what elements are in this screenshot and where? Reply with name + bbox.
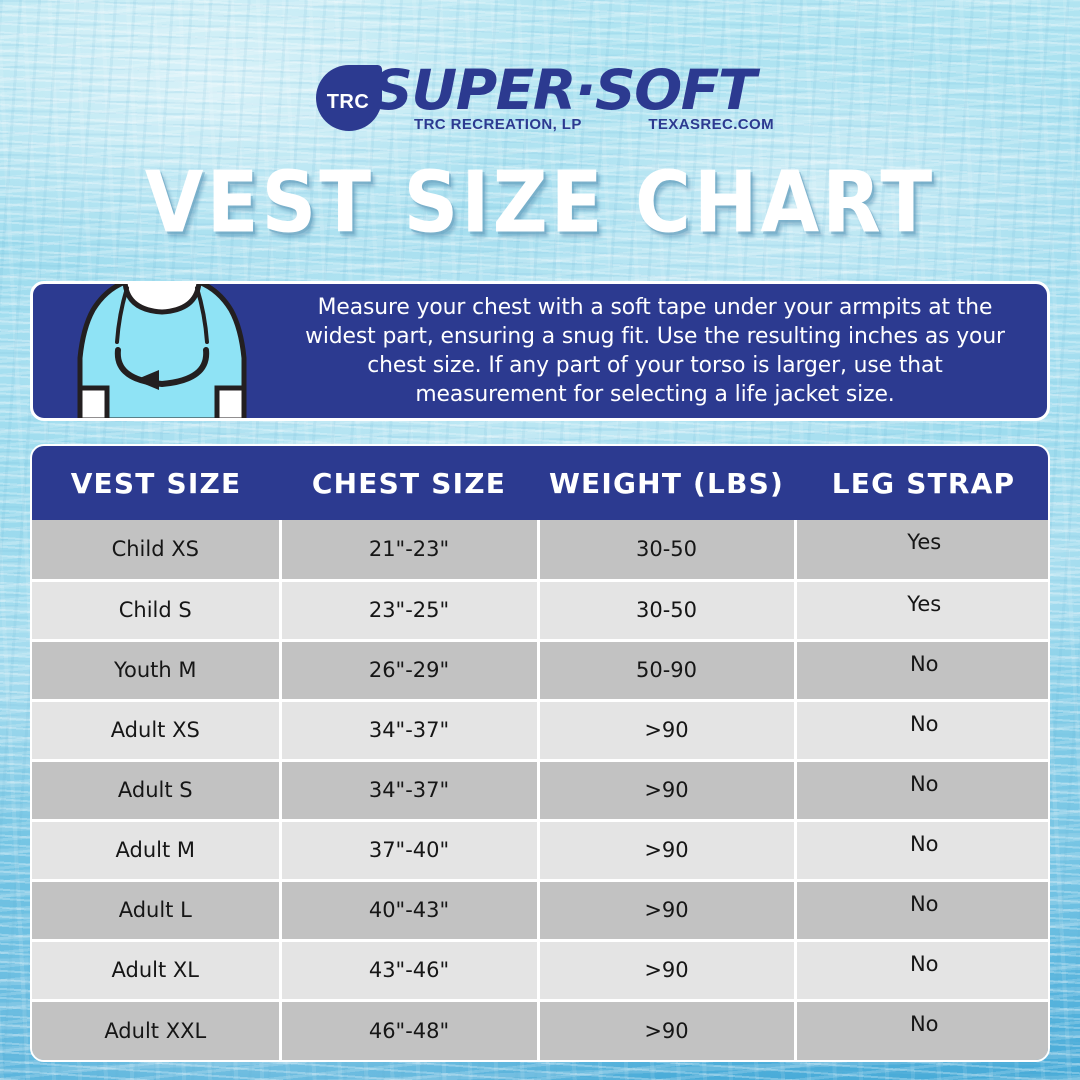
cell-chest-size: 23"-25": [280, 580, 538, 640]
table-row: Youth M26"-29"50-90No: [32, 640, 1050, 700]
cell-weight: >90: [538, 1000, 795, 1060]
cell-chest-size: 34"-37": [280, 760, 538, 820]
table-row: Adult S34"-37">90No: [32, 760, 1050, 820]
table-row: Child XS21"-23"30-50Yes: [32, 520, 1050, 580]
cell-vest-size: Child S: [32, 580, 280, 640]
column-header-leg-strap: LEG STRAP: [795, 446, 1050, 520]
cell-weight: >90: [538, 760, 795, 820]
cell-leg-strap: No: [795, 760, 1050, 820]
cell-chest-size: 37"-40": [280, 820, 538, 880]
cell-vest-size: Child XS: [32, 520, 280, 580]
brand-wordmark: SUPER·SOFT: [372, 58, 755, 122]
logo-mark-text: TRC: [327, 91, 370, 114]
cell-leg-strap: No: [795, 700, 1050, 760]
instruction-text: Measure your chest with a soft tape unde…: [298, 293, 1012, 410]
table-row: Adult XS34"-37">90No: [32, 700, 1050, 760]
cell-chest-size: 40"-43": [280, 880, 538, 940]
cell-weight: 50-90: [538, 640, 795, 700]
cell-vest-size: Youth M: [32, 640, 280, 700]
cell-chest-size: 43"-46": [280, 940, 538, 1000]
cell-weight: >90: [538, 940, 795, 1000]
cell-weight: 30-50: [538, 520, 795, 580]
cell-vest-size: Adult XXL: [32, 1000, 280, 1060]
cell-weight: 30-50: [538, 580, 795, 640]
vest-size-table: VEST SIZE CHEST SIZE WEIGHT (LBS) LEG ST…: [30, 444, 1050, 1062]
cell-vest-size: Adult XL: [32, 940, 280, 1000]
table-row: Adult XXL46"-48">90No: [32, 1000, 1050, 1060]
cell-weight: >90: [538, 700, 795, 760]
page-title: VEST SIZE CHART: [0, 152, 1080, 252]
torso-chest-measure-icon: [33, 284, 283, 418]
cell-vest-size: Adult XS: [32, 700, 280, 760]
cell-leg-strap: No: [795, 820, 1050, 880]
cell-vest-size: Adult L: [32, 880, 280, 940]
cell-chest-size: 46"-48": [280, 1000, 538, 1060]
cell-chest-size: 26"-29": [280, 640, 538, 700]
table-row: Adult XL43"-46">90No: [32, 940, 1050, 1000]
table-row: Child S23"-25"30-50Yes: [32, 580, 1050, 640]
cell-chest-size: 34"-37": [280, 700, 538, 760]
column-header-chest-size: CHEST SIZE: [280, 446, 538, 520]
table-row: Adult L40"-43">90No: [32, 880, 1050, 940]
cell-weight: >90: [538, 880, 795, 940]
cell-leg-strap: No: [795, 940, 1050, 1000]
cell-leg-strap: Yes: [795, 580, 1050, 640]
cell-vest-size: Adult S: [32, 760, 280, 820]
column-header-vest-size: VEST SIZE: [32, 446, 280, 520]
table-header-row: VEST SIZE CHEST SIZE WEIGHT (LBS) LEG ST…: [32, 446, 1050, 520]
brand-tagline-website: TEXASREC.COM: [648, 116, 774, 133]
cell-leg-strap: No: [795, 640, 1050, 700]
brand-tagline-company: TRC RECREATION, LP: [414, 116, 582, 133]
cell-vest-size: Adult M: [32, 820, 280, 880]
column-header-weight: WEIGHT (LBS): [538, 446, 795, 520]
cell-leg-strap: No: [795, 880, 1050, 940]
cell-chest-size: 21"-23": [280, 520, 538, 580]
table-row: Adult M37"-40">90No: [32, 820, 1050, 880]
cell-weight: >90: [538, 820, 795, 880]
brand-logo: TRC SUPER·SOFT TRC RECREATION, LP TEXASR…: [0, 62, 1080, 144]
measurement-instruction-panel: Measure your chest with a soft tape unde…: [30, 281, 1050, 421]
cell-leg-strap: No: [795, 1000, 1050, 1060]
cell-leg-strap: Yes: [795, 520, 1050, 580]
